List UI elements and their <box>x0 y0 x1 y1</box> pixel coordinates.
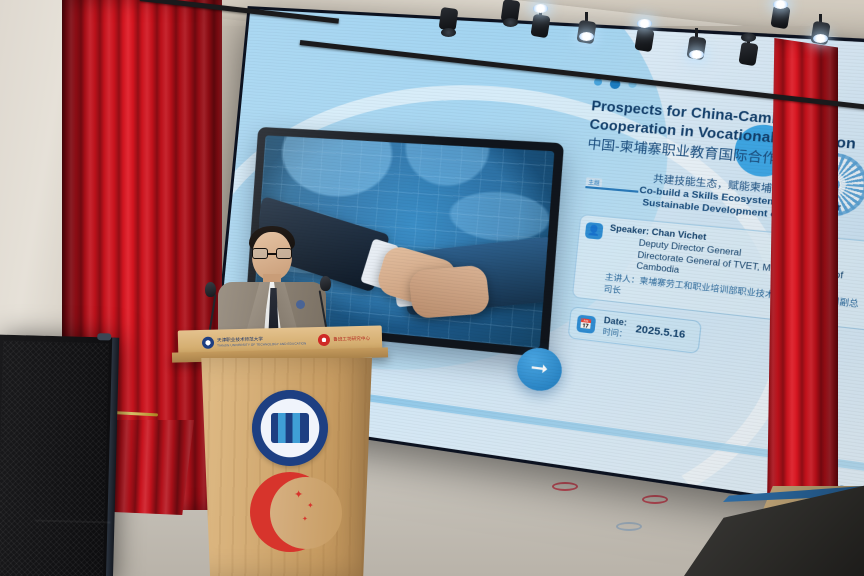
presenter <box>214 224 330 342</box>
presenter-badge <box>296 300 305 309</box>
date-label-cn: 时间： <box>602 326 627 340</box>
crescent-star-icon <box>318 334 330 346</box>
podium-crescent-emblem: ✦ ✦ ✦ <box>250 472 330 552</box>
floor-marker <box>616 522 642 531</box>
star-icon: ✦ <box>302 516 308 523</box>
podium-logo-primary: 天津职业技术师范大学 TIANJIN UNIVERSITY OF TECHNOL… <box>202 334 307 349</box>
glasses-icon <box>252 248 292 259</box>
date-value: 2025.5.16 <box>635 324 686 342</box>
star-icon: ✦ <box>294 490 303 501</box>
podium-logo-secondary-text: 鲁班工坊研究中心 <box>333 336 370 342</box>
floor-marker <box>552 482 578 491</box>
person-icon: 👤 <box>585 222 604 240</box>
seal-book-mark <box>271 413 309 443</box>
university-seal-icon <box>202 337 214 349</box>
right-hand <box>408 264 490 319</box>
calendar-icon: 📅 <box>576 314 596 333</box>
stage-loudspeaker-cabinet <box>0 334 115 576</box>
right-red-curtain <box>764 38 838 510</box>
floor-marker <box>642 495 668 504</box>
stage-photo-scene: Prospects for China-Cambodia Cooperation… <box>0 0 864 576</box>
podium-logo-secondary: 鲁班工坊研究中心 <box>318 333 370 346</box>
microphone-head <box>320 276 331 291</box>
star-icon: ✦ <box>307 502 314 510</box>
microphone-head <box>205 282 216 297</box>
podium-university-seal-emblem <box>252 390 328 466</box>
